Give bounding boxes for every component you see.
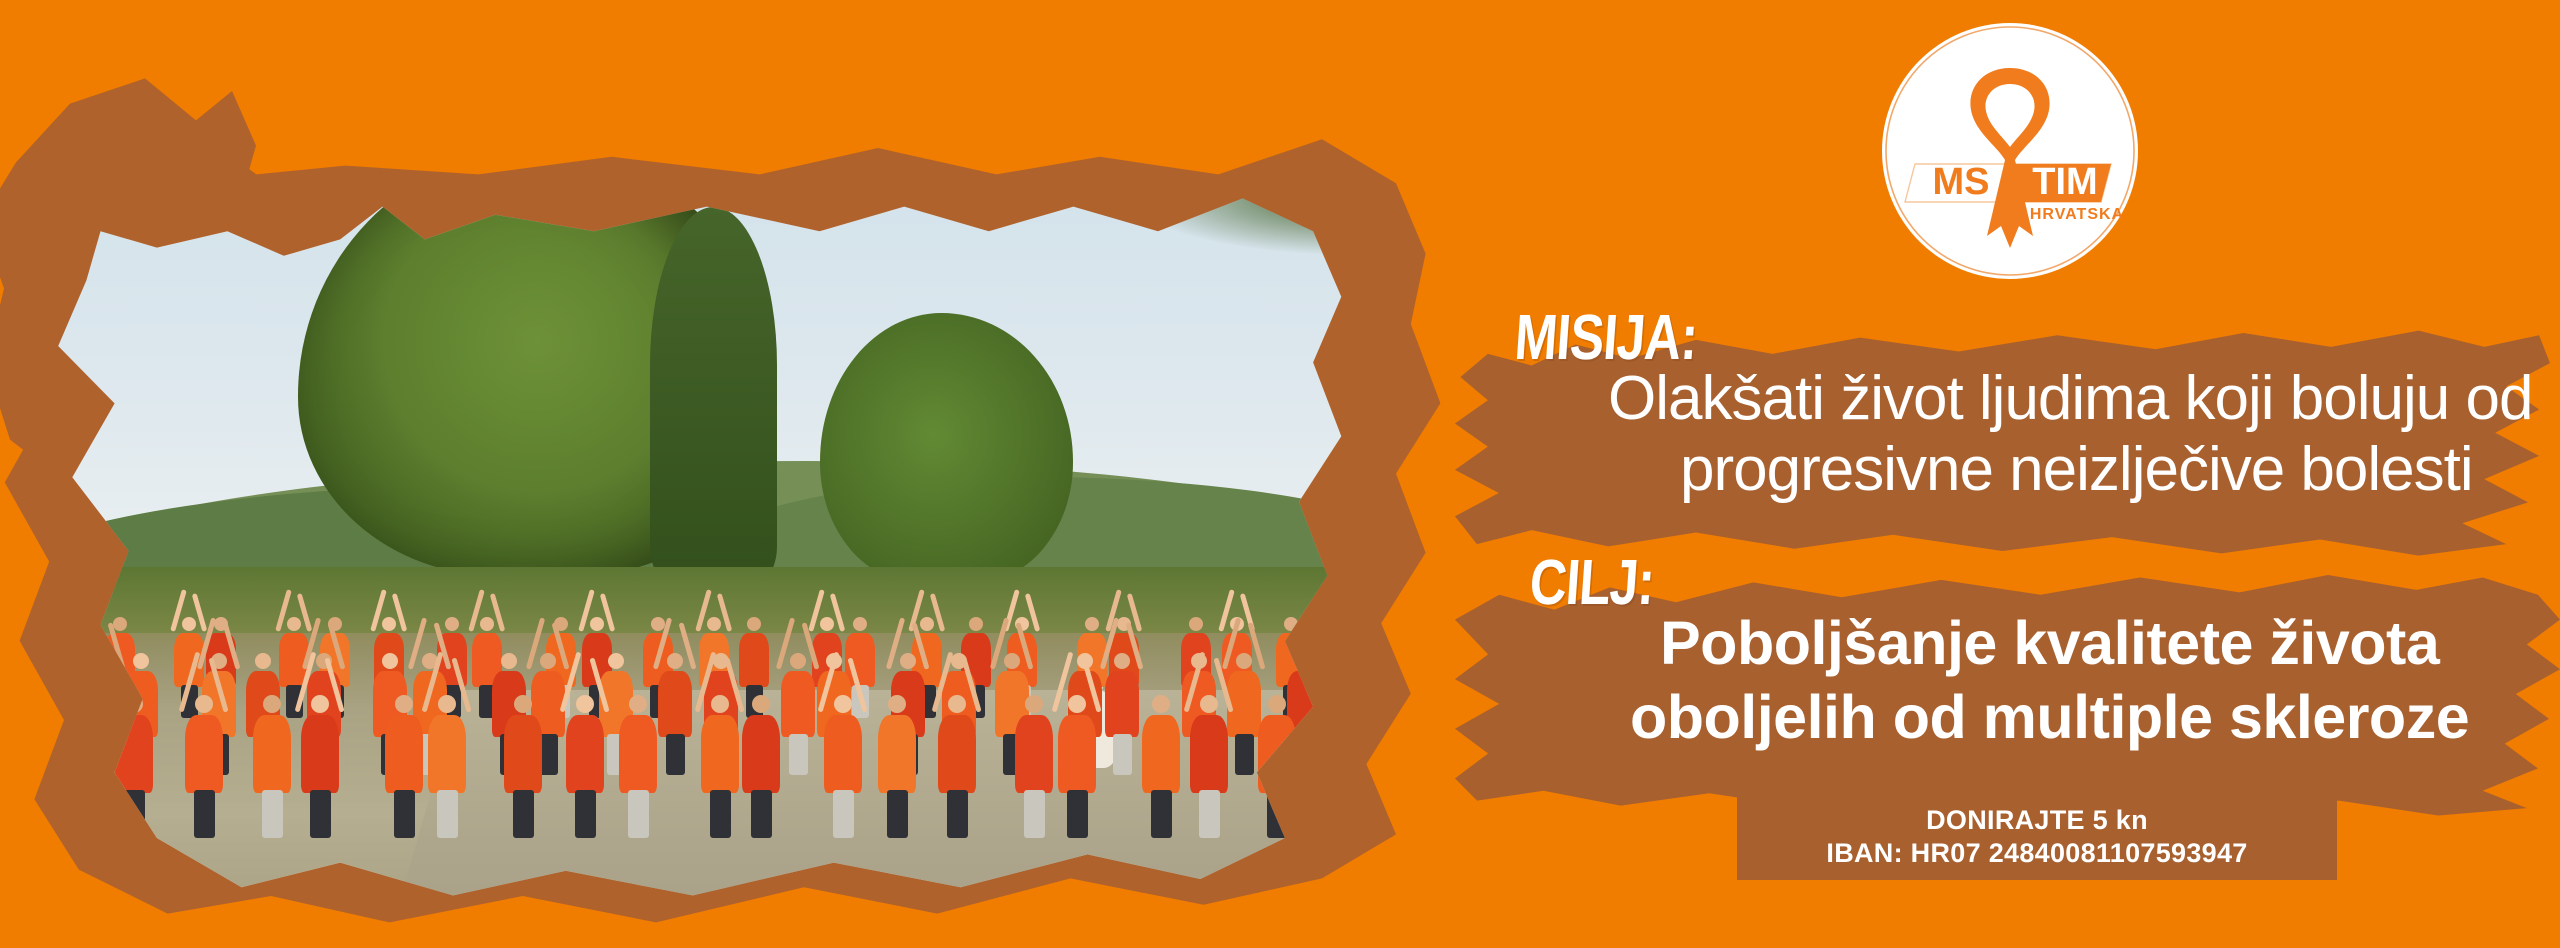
crowd-person <box>504 715 542 793</box>
crowd-person <box>1015 715 1053 793</box>
logo-tim-text: TIM <box>2032 161 2097 203</box>
person-legs <box>310 790 331 838</box>
person-head <box>1382 617 1396 631</box>
ms-tim-banner: null MS TIM HRVATSKA MISIJA: Olakšati ži… <box>0 0 2560 948</box>
person-head <box>969 617 983 631</box>
person-head <box>747 617 761 631</box>
person-head <box>445 617 459 631</box>
person-head <box>1085 617 1099 631</box>
person-legs <box>1235 734 1254 775</box>
person-head <box>920 617 934 631</box>
person-head <box>133 653 149 669</box>
person-head <box>1402 653 1418 669</box>
person-legs <box>833 790 854 838</box>
goal-line-1: Poboljšanje kvalitete života <box>1660 608 2439 678</box>
person-head <box>707 617 721 631</box>
mission-line-2: progresivne neizlječive bolesti <box>1680 434 2473 505</box>
person-legs <box>194 790 215 838</box>
person-head <box>711 695 729 713</box>
person-head <box>1189 617 1203 631</box>
person-head <box>382 653 398 669</box>
person-legs <box>710 790 731 838</box>
person-legs <box>1113 734 1132 775</box>
crowd-person <box>824 715 862 793</box>
crowd-person <box>1058 715 1096 793</box>
person-head <box>182 617 196 631</box>
person-legs <box>947 790 968 838</box>
person-legs <box>666 734 685 775</box>
crowd-person <box>658 671 692 737</box>
person-head <box>1236 653 1252 669</box>
person-head <box>888 695 906 713</box>
person-head <box>790 653 806 669</box>
crowd-person <box>566 715 604 793</box>
person-legs <box>751 790 772 838</box>
person-head <box>590 617 604 631</box>
crowd-person <box>619 715 657 793</box>
crowd-person <box>781 671 815 737</box>
crowd-person <box>1190 715 1228 793</box>
person-legs <box>394 790 415 838</box>
person-head <box>514 695 532 713</box>
person-head <box>667 653 683 669</box>
person-head <box>311 695 329 713</box>
person-head <box>501 653 517 669</box>
person-legs <box>789 734 808 775</box>
ms-tim-logo: MS TIM HRVATSKA <box>1879 20 2141 282</box>
person-legs <box>1401 734 1420 775</box>
crowd-person <box>385 715 423 793</box>
goal-line-2: oboljelih od multiple skleroze <box>1630 682 2469 752</box>
person-legs <box>437 790 458 838</box>
person-head <box>820 617 834 631</box>
person-head <box>608 653 624 669</box>
crowd-person <box>878 715 916 793</box>
crowd-person <box>428 715 466 793</box>
crowd-person <box>739 633 769 687</box>
person-head <box>113 617 127 631</box>
crowd-person <box>1142 715 1180 793</box>
photo-collage: null <box>0 0 1480 948</box>
person-head <box>195 695 213 713</box>
person-head <box>480 617 494 631</box>
donate-box[interactable]: DONIRAJTE 5 kn IBAN: HR07 24840081107593… <box>1737 794 2337 880</box>
person-head <box>853 617 867 631</box>
crowd-person <box>742 715 780 793</box>
goal-kicker: CILJ: <box>1527 545 1656 619</box>
person-head <box>629 695 647 713</box>
person-legs <box>513 790 534 838</box>
person-legs <box>887 790 908 838</box>
mission-line-1: Olakšati život ljudima koji boluju od <box>1608 363 2532 434</box>
crowd: null <box>58 469 1440 781</box>
person-head <box>1004 653 1020 669</box>
crowd-person <box>701 715 739 793</box>
person-head <box>540 653 556 669</box>
person-legs <box>1199 790 1220 838</box>
crowd-person <box>185 715 223 793</box>
donate-iban-label: IBAN: HR07 24840081107593947 <box>1826 838 2247 869</box>
person-legs <box>1151 790 1172 838</box>
person-legs <box>1067 790 1088 838</box>
person-head <box>576 695 594 713</box>
person-head <box>1114 653 1130 669</box>
person-legs <box>628 790 649 838</box>
person-head <box>1068 695 1086 713</box>
person-head <box>1152 695 1170 713</box>
crowd-person <box>253 715 291 793</box>
person-head <box>1200 695 1218 713</box>
person-head <box>382 617 396 631</box>
logo-ms-text: MS <box>1933 161 1990 203</box>
person-legs <box>1024 790 1045 838</box>
person-head <box>1268 695 1286 713</box>
logo-country-text: HRVATSKA <box>2030 206 2124 223</box>
person-head <box>834 695 852 713</box>
crowd-person <box>301 715 339 793</box>
person-head <box>752 695 770 713</box>
person-legs <box>575 790 596 838</box>
donate-amount-label: DONIRAJTE 5 kn <box>1926 805 2148 836</box>
crowd-person <box>1105 671 1139 737</box>
person-head <box>395 695 413 713</box>
person-head <box>1025 695 1043 713</box>
person-head <box>287 617 301 631</box>
crowd-person <box>938 715 976 793</box>
person-head <box>255 653 271 669</box>
person-legs <box>262 790 283 838</box>
